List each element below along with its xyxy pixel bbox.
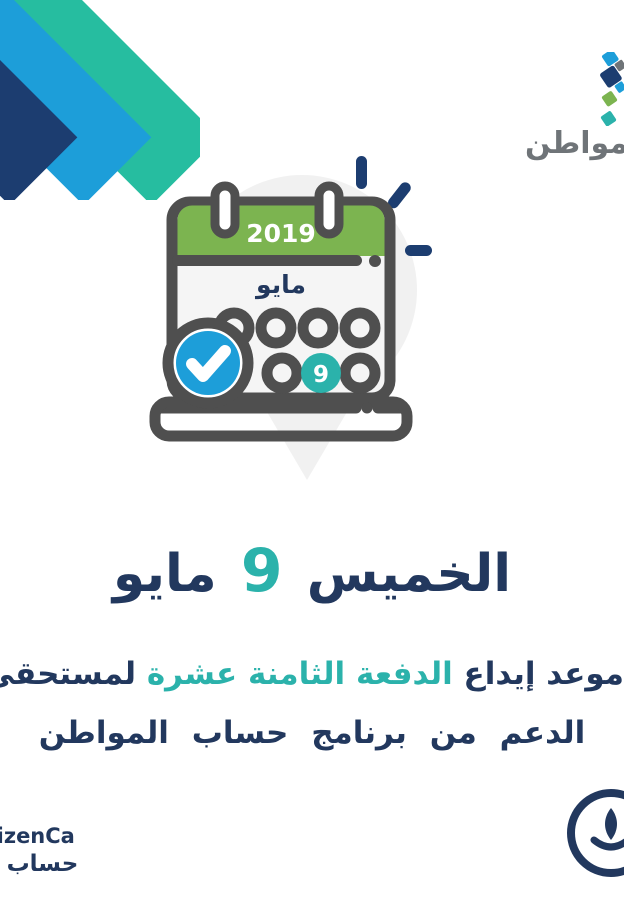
highlighted-day-number: 9 (313, 362, 329, 388)
body-line-1-highlight: الدفعة الثامنة عشرة (147, 656, 453, 692)
headline-month: مايو (113, 544, 217, 604)
body-copy: موعد إيداع الدفعة الثامنة عشرة لمستحقي ا… (0, 645, 624, 763)
calendar-year: 2019 (246, 219, 316, 248)
headline: الخميس 9 مايو (0, 537, 624, 606)
body-line-1-before: موعد إيداع (464, 656, 624, 692)
body-line-1-after: لمستحقي (0, 656, 136, 692)
footer-brand: CitizenCa حساب الم (0, 823, 78, 880)
footer-latin-text: CitizenCa (0, 823, 78, 849)
government-emblem (556, 778, 624, 888)
poster-canvas: المواطن (0, 0, 624, 924)
body-line-1: موعد إيداع الدفعة الثامنة عشرة لمستحقي (0, 645, 624, 704)
footer-arabic-text: حساب الم (0, 849, 78, 880)
body-line-2: الدعم من برنامج حساب المواطن (0, 704, 624, 763)
headline-day-name: الخميس (307, 544, 511, 604)
headline-day-number: 9 (235, 536, 289, 606)
logo-mark-icon (572, 52, 624, 126)
calendar-month: مايو (254, 270, 306, 300)
calendar-illustration: 2019 مايو 9 (0, 150, 624, 510)
